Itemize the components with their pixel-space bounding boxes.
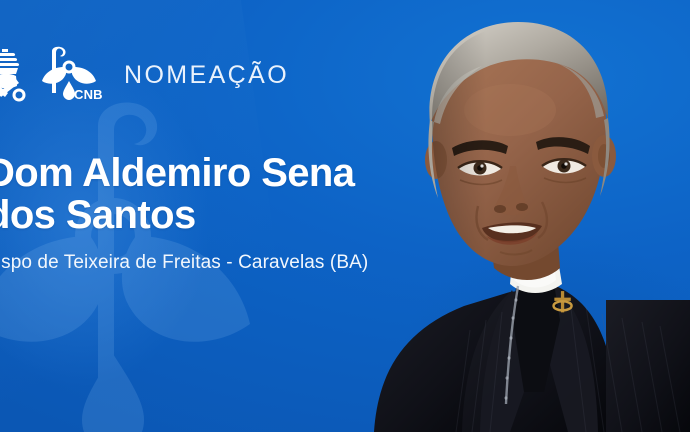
chain-links xyxy=(504,298,517,399)
head xyxy=(420,20,616,280)
brand-header: CNBB NOMEAÇÃO xyxy=(0,44,289,104)
suit xyxy=(374,272,690,432)
bishop-name: Dom Aldemiro Sena dos Santos xyxy=(0,152,416,236)
holy-see-coat-of-arms-icon xyxy=(0,45,30,103)
roman-collar xyxy=(510,260,562,293)
portrait-alt-text: Retrato de Dom Aldemiro Sena dos Santos xyxy=(0,0,1,1)
nomeacao-announcement-card: CNBB NOMEAÇÃO Dom Aldemiro Sena dos Sant… xyxy=(0,0,690,432)
eyes xyxy=(458,159,586,184)
cnbb-wordmark: CNBB xyxy=(74,87,102,102)
bishop-name-line-2: dos Santos xyxy=(0,194,416,236)
cnbb-logo-icon: CNBB xyxy=(38,45,102,103)
background-tone-panel-right xyxy=(370,212,690,432)
announcement-kicker: NOMEAÇÃO xyxy=(124,63,289,88)
hair xyxy=(428,22,609,198)
bishop-name-line-1: Dom Aldemiro Sena xyxy=(0,152,416,194)
bishop-diocese-subtitle: Bispo de Teixeira de Freitas - Caravelas… xyxy=(0,250,368,276)
mouth xyxy=(482,222,542,244)
cnbb-lapel-pin-icon xyxy=(554,291,572,312)
pectoral-chain xyxy=(506,286,518,404)
